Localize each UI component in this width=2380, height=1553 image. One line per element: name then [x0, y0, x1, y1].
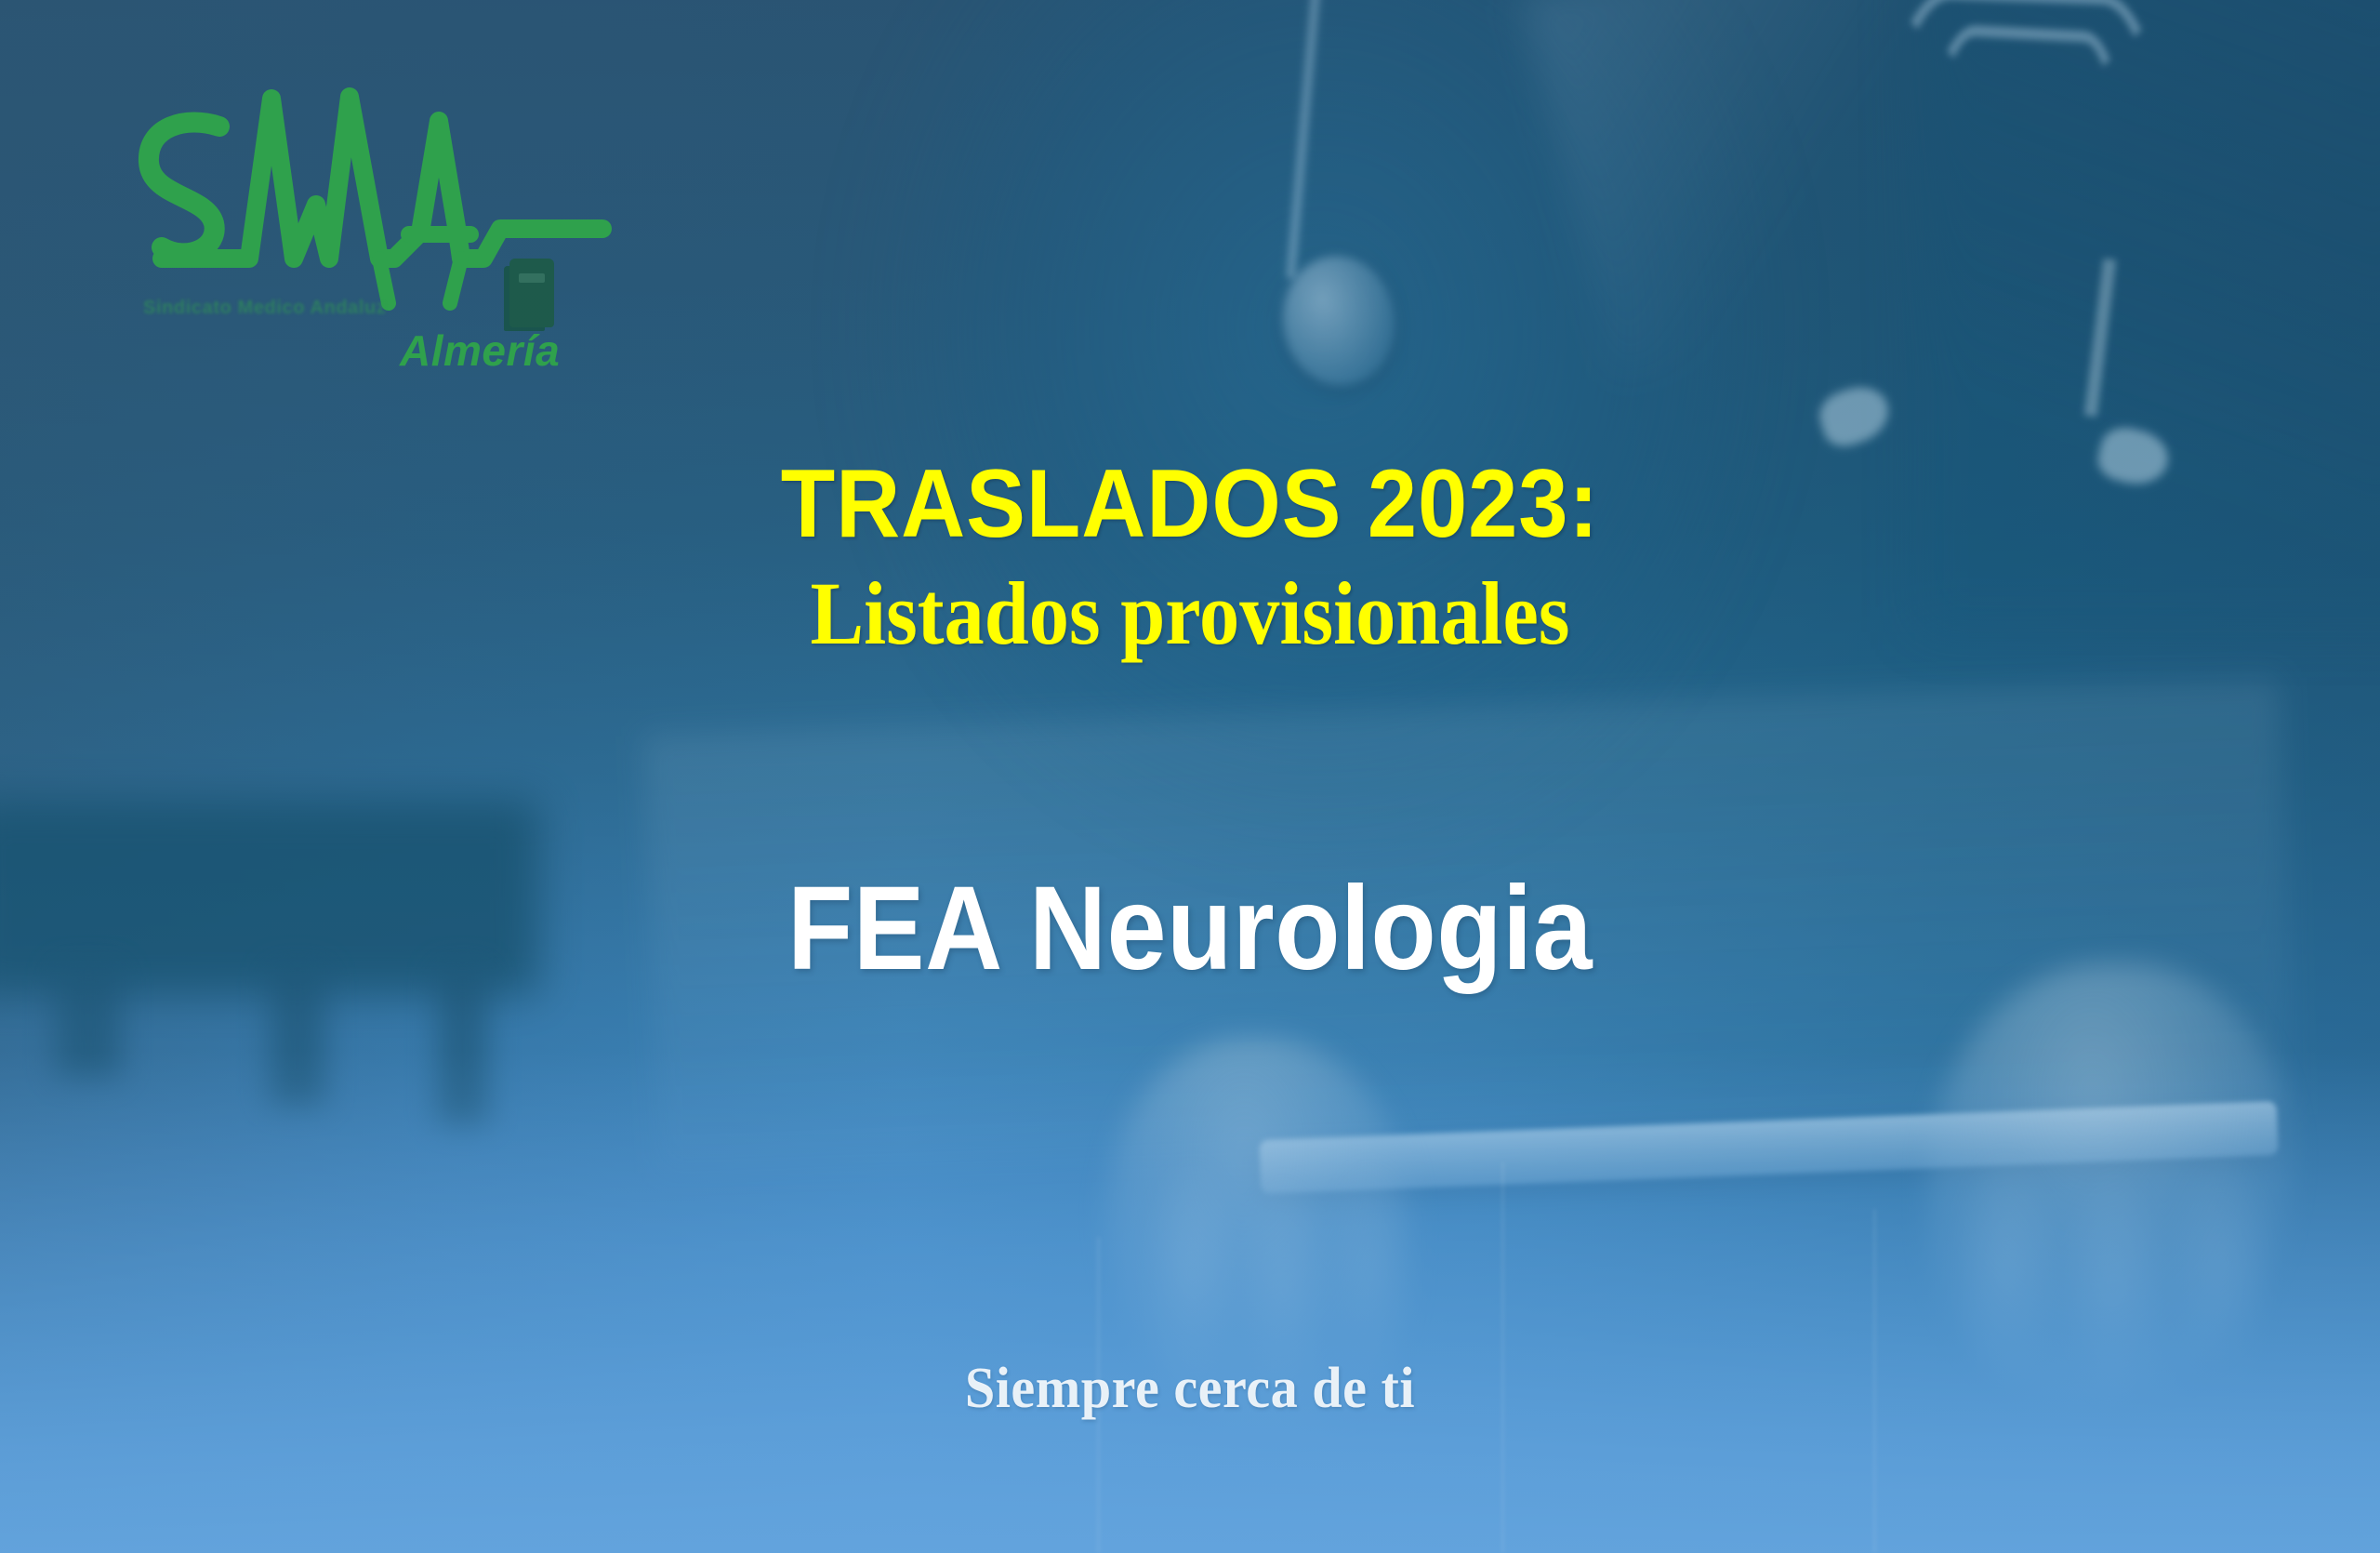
- sma-logo-city: Almería: [400, 325, 560, 376]
- sma-logo-subtitle: Sindicato Medico Andaluz: [143, 298, 534, 319]
- slide-subject-title: FEA Neurologia: [119, 860, 2261, 997]
- sma-logo[interactable]: Sindicato Medico Andaluz Almería: [130, 93, 614, 391]
- headline-line-1: TRASLADOS 2023:: [95, 456, 2284, 552]
- headline-block: TRASLADOS 2023: Listados provisionales: [0, 456, 2380, 658]
- title-slide: Sindicato Medico Andaluz Almería TRASLAD…: [0, 0, 2380, 1553]
- slide-tagline: Siempre cerca de ti: [72, 1356, 2308, 1422]
- headline-line-2: Listados provisionales: [119, 569, 2261, 658]
